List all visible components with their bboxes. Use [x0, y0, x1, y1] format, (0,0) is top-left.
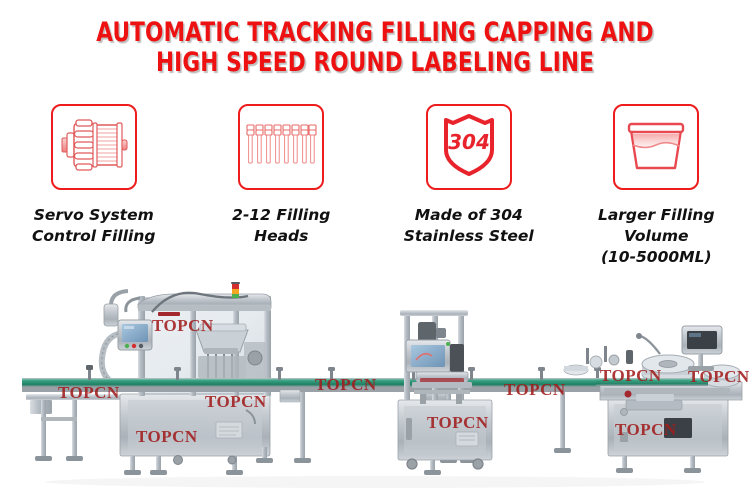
shield-badge-text: 304 — [448, 130, 490, 154]
filling-nozzles-icon — [245, 117, 317, 178]
feature-item-stainless-steel: 304 Made of 304 Stainless Steel — [380, 104, 558, 247]
title-line-2: HIGH SPEED ROUND LABELING LINE — [75, 48, 675, 78]
feature-caption-filling-volume: Larger Filling Volume (10-5000ML) — [567, 205, 745, 268]
caption-line: Made of 304 — [380, 205, 558, 226]
caption-line: Volume — [567, 226, 745, 247]
caption-line: 2-12 Filling — [192, 205, 370, 226]
production-line-illustration — [0, 282, 750, 496]
feature-caption-servo-system: Servo System Control Filling — [5, 205, 183, 247]
filling-tub-icon-box — [613, 104, 699, 190]
filling-tub-icon — [623, 116, 689, 179]
promo-banner: AUTOMATIC TRACKING FILLING CAPPING AND H… — [0, 0, 750, 496]
shield-304-icon: 304 — [438, 112, 500, 183]
servo-motor-icon — [59, 115, 129, 180]
title-line-1: AUTOMATIC TRACKING FILLING CAPPING AND — [75, 18, 675, 48]
capping-machine — [398, 310, 492, 475]
caption-line: Larger Filling — [567, 205, 745, 226]
caption-line: Servo System — [5, 205, 183, 226]
page-title: AUTOMATIC TRACKING FILLING CAPPING AND H… — [0, 18, 750, 78]
feature-item-filling-volume: Larger Filling Volume (10-5000ML) — [567, 104, 745, 268]
shield-304-icon-box: 304 — [426, 104, 512, 190]
caption-line: Stainless Steel — [380, 226, 558, 247]
filling-nozzles-icon-box — [238, 104, 324, 190]
servo-motor-icon-box — [51, 104, 137, 190]
feature-item-servo-system: Servo System Control Filling — [5, 104, 183, 247]
feature-caption-stainless-steel: Made of 304 Stainless Steel — [380, 205, 558, 247]
caption-line: (10-5000ML) — [567, 247, 745, 268]
caption-line: Heads — [192, 226, 370, 247]
caption-line: Control Filling — [5, 226, 183, 247]
feature-list: Servo System Control Filling — [0, 104, 750, 268]
feature-item-filling-heads: 2-12 Filling Heads — [192, 104, 370, 247]
labeling-machine — [564, 326, 742, 473]
feature-caption-filling-heads: 2-12 Filling Heads — [192, 205, 370, 247]
production-line-photo: TOPCN TOPCN TOPCN TOPCN TOPCN TOPCN TOPC… — [0, 282, 750, 496]
